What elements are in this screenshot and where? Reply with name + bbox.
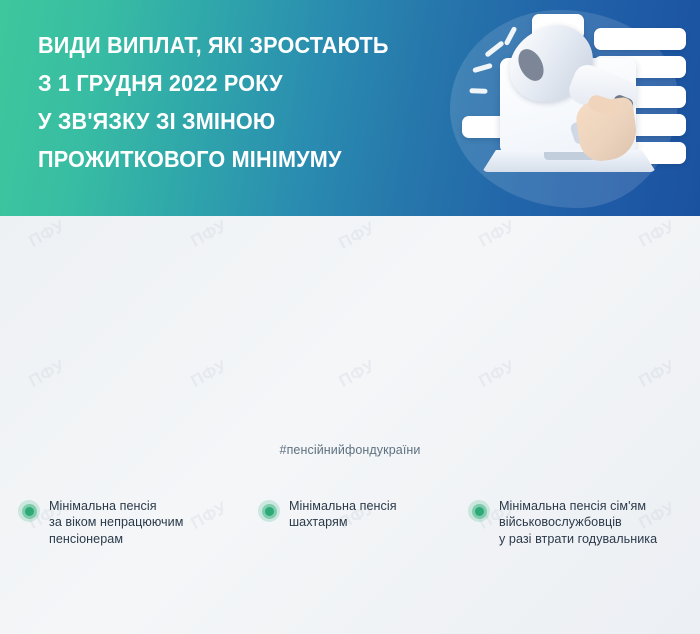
watermark-pfu: ПФУ	[476, 356, 519, 392]
watermark-pfu: ПФУ	[188, 216, 231, 252]
list-item-label: Мінімальна пенсія шахтарям	[289, 498, 397, 531]
list-item: Мінімальна пенсія за віком непрацюючим п…	[18, 498, 240, 547]
speech-bubble-icon	[594, 28, 686, 50]
watermark-layer: ПФУПФУПФУПФУПФУПФУПФУПФУПФУПФУПФУПФУПФУП…	[0, 216, 700, 634]
hashtag-label: #пенсійнийфондукраїни	[0, 443, 700, 457]
content-area: ПФУПФУПФУПФУПФУПФУПФУПФУПФУПФУПФУПФУПФУП…	[0, 216, 700, 634]
infographic-poster: ВИДИ ВИПЛАТ, ЯКІ ЗРОСТАЮТЬ З 1 ГРУДНЯ 20…	[0, 0, 700, 634]
list-item-label: Мінімальна пенсія за віком непрацюючим п…	[49, 498, 183, 547]
list-item: Мінімальна пенсія шахтарям	[258, 498, 463, 531]
header-banner: ВИДИ ВИПЛАТ, ЯКІ ЗРОСТАЮТЬ З 1 ГРУДНЯ 20…	[0, 0, 700, 216]
page-title: ВИДИ ВИПЛАТ, ЯКІ ЗРОСТАЮТЬ З 1 ГРУДНЯ 20…	[38, 26, 434, 178]
watermark-pfu: ПФУ	[26, 216, 69, 252]
list-item: Мінімальна пенсія сім'ям військовослужбо…	[468, 498, 694, 547]
bullet-circle-icon	[258, 500, 280, 522]
watermark-pfu: ПФУ	[26, 356, 69, 392]
watermark-pfu: ПФУ	[188, 356, 231, 392]
watermark-pfu: ПФУ	[336, 218, 379, 254]
bullet-circle-icon	[18, 500, 40, 522]
bullet-circle-icon	[468, 500, 490, 522]
list-item-label: Мінімальна пенсія сім'ям військовослужбо…	[499, 498, 657, 547]
laptop-megaphone-illustration	[432, 0, 700, 216]
watermark-pfu: ПФУ	[336, 356, 379, 392]
watermark-pfu: ПФУ	[476, 216, 519, 252]
watermark-pfu: ПФУ	[636, 216, 679, 252]
watermark-pfu: ПФУ	[636, 356, 679, 392]
